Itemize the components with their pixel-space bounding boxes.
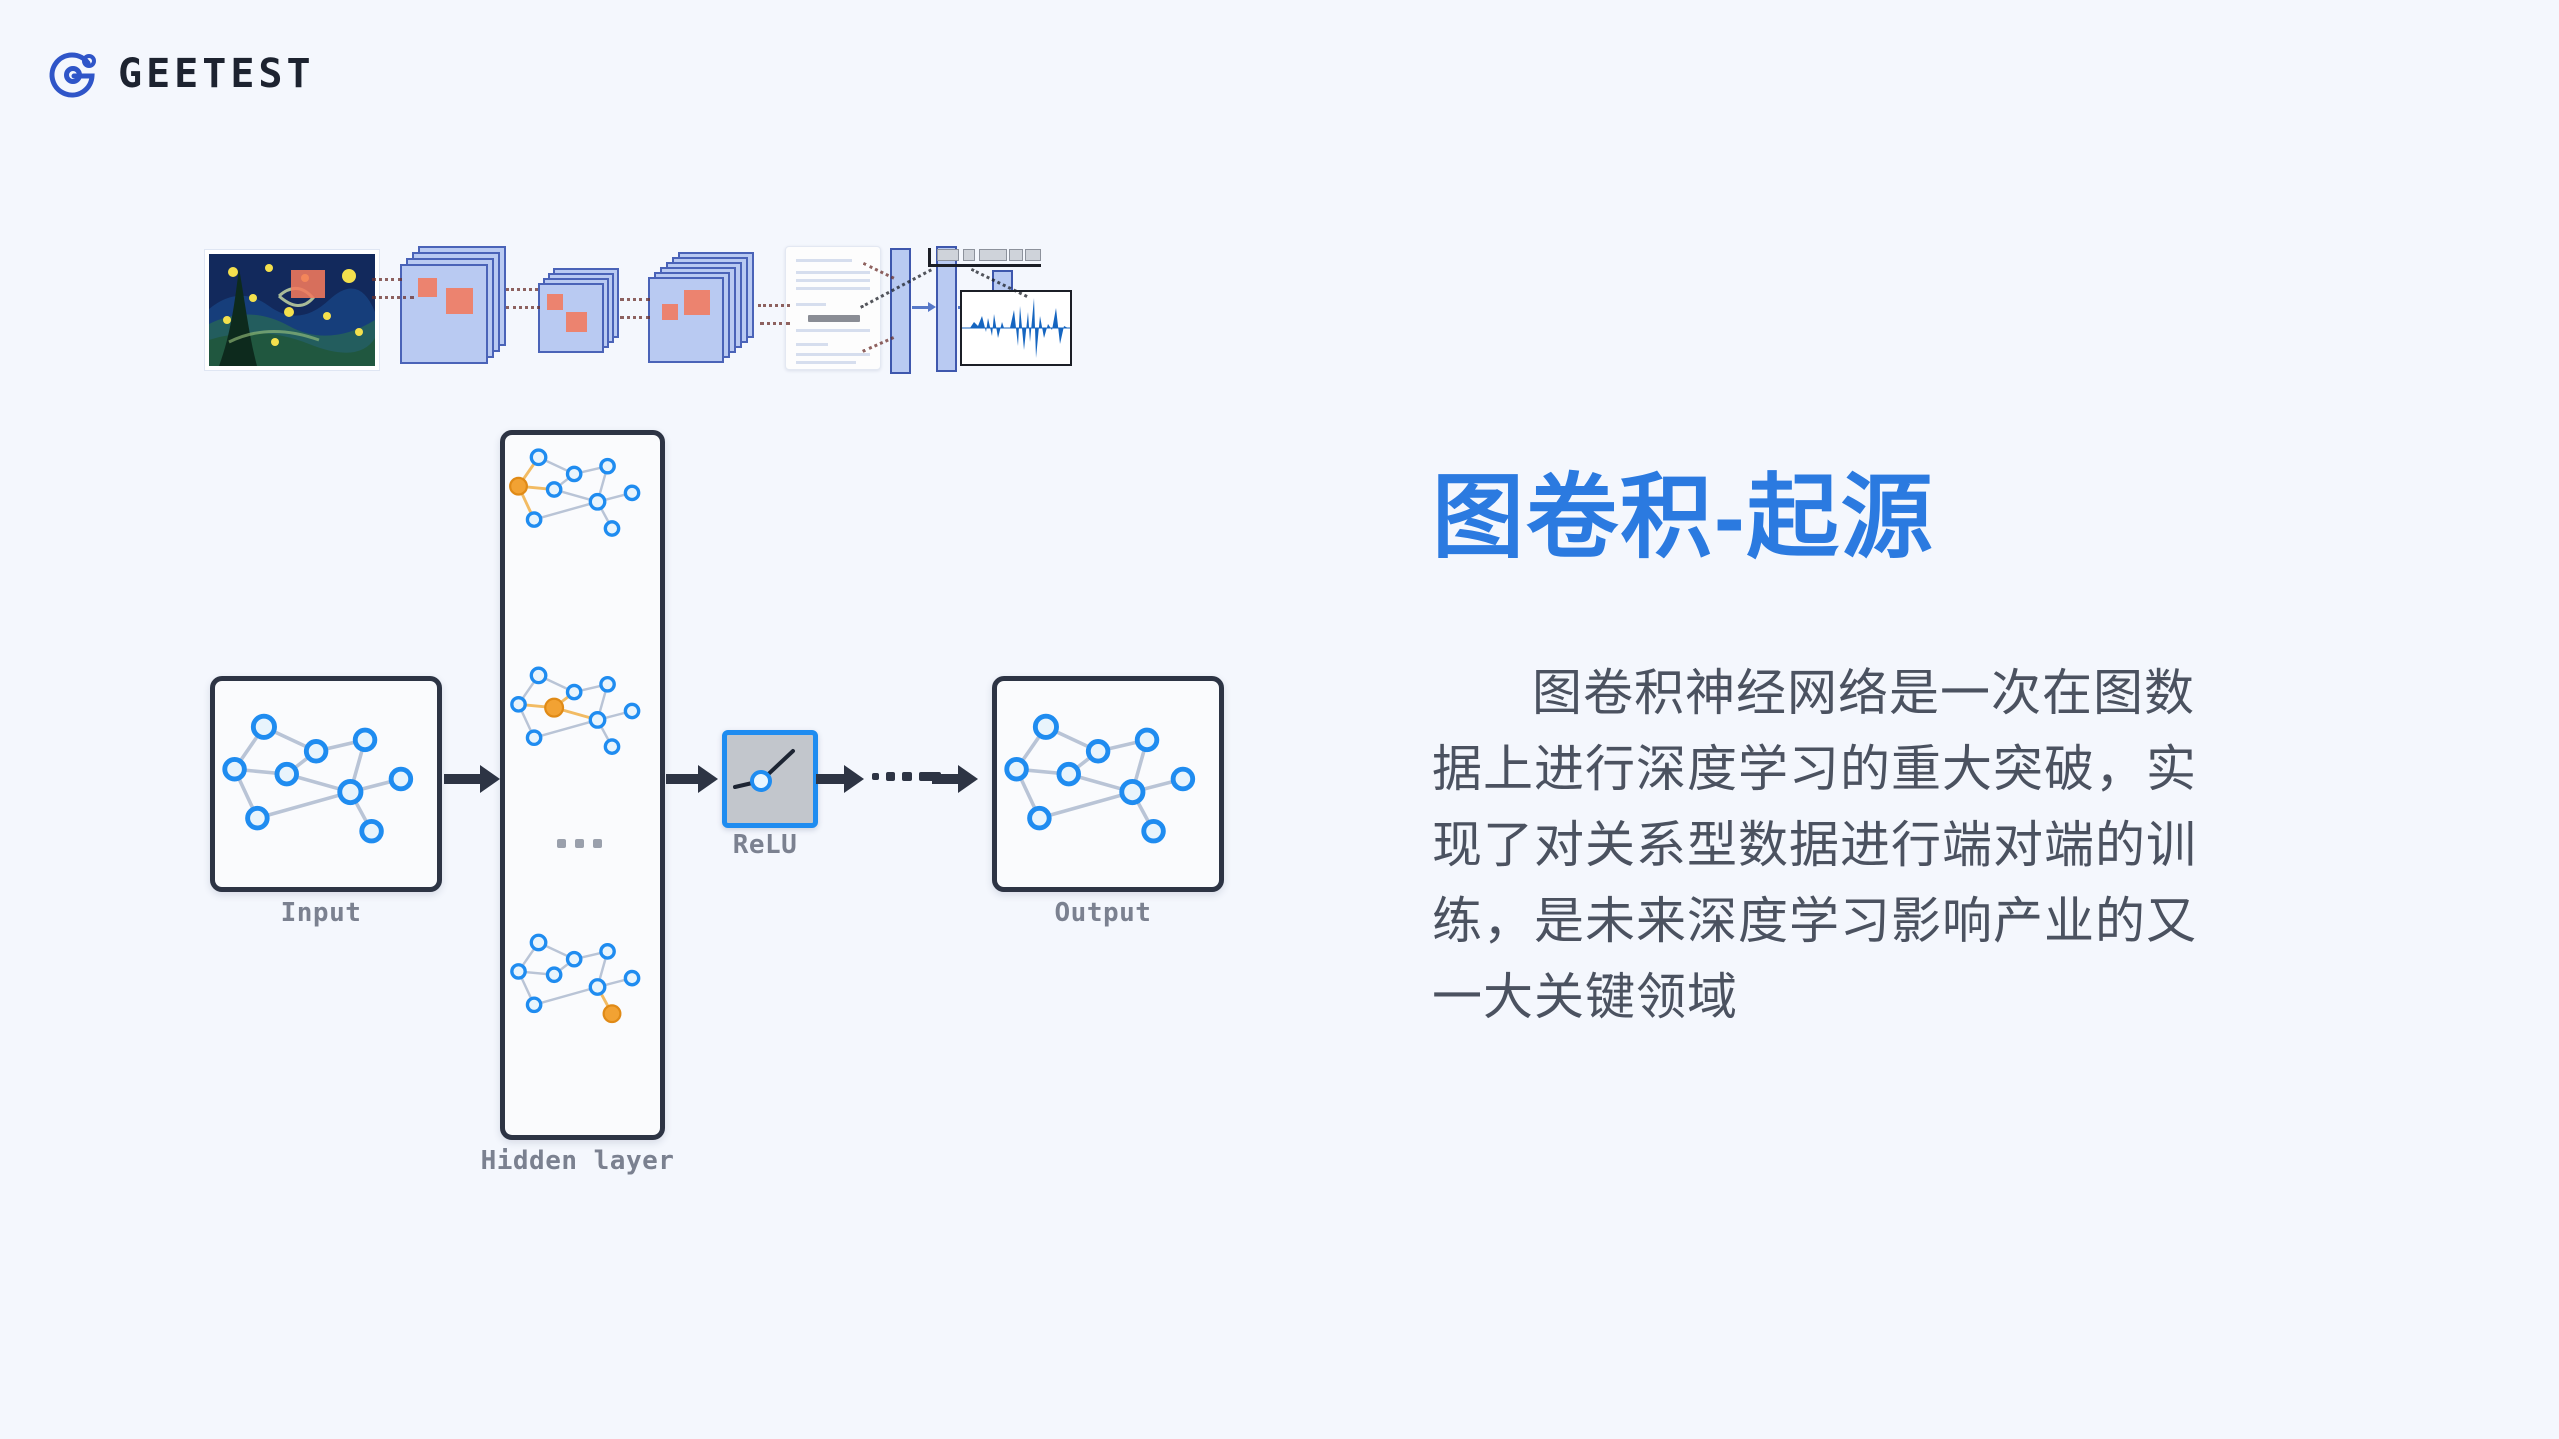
graph-convolution-pipeline: Input: [210, 430, 1310, 1220]
conv-feature-maps-3: [648, 252, 756, 370]
connector-line: [758, 304, 790, 307]
brand-name: GEETEST: [118, 51, 315, 97]
connector-line: [372, 278, 402, 281]
input-box[interactable]: [210, 676, 442, 892]
body-paragraph: 图卷积神经网络是一次在图数据上进行深度学习的重大突破，实现了对关系型数据进行端对…: [1432, 655, 2242, 1035]
fc-bar-1: [890, 248, 911, 374]
input-label: Input: [210, 898, 432, 928]
input-graph: [215, 681, 427, 877]
connector-line: [620, 298, 650, 301]
page-title: 图卷积-起源: [1432, 470, 2242, 567]
connector-line: [620, 316, 650, 319]
connector-line: [760, 322, 790, 325]
copy-column: 图卷积-起源 图卷积神经网络是一次在图数据上进行深度学习的重大突破，实现了对关系…: [1432, 470, 2242, 1035]
hidden-layer-box[interactable]: [500, 430, 665, 1140]
output-box[interactable]: [992, 676, 1224, 892]
document-highlight: [808, 315, 860, 322]
highlight-node: [510, 478, 527, 495]
token-sequence-bar: [928, 248, 1041, 267]
hidden-layer-graph: [505, 435, 650, 1125]
starry-night-input-image: [205, 250, 379, 370]
hidden-layer-label: Hidden layer: [475, 1146, 680, 1176]
conv-receptive-patch: [291, 270, 325, 298]
fc-arrow-1: [912, 306, 929, 309]
highlight-node: [545, 699, 563, 717]
brand-logo: GEETEST: [44, 46, 315, 102]
connector-line: [372, 296, 414, 299]
cnn-feature-extraction-strip: [200, 238, 1290, 398]
sequence-dots: [872, 772, 941, 781]
relu-label: ReLU: [710, 830, 820, 860]
highlight-node: [604, 1005, 621, 1022]
audio-waveform: [960, 290, 1072, 366]
conv-feature-maps-1: [400, 246, 505, 366]
geetest-g-logo-icon: [44, 46, 100, 102]
output-graph: [997, 681, 1209, 877]
output-label: Output: [992, 898, 1214, 928]
relu-box[interactable]: [722, 730, 818, 828]
hidden-layer-ellipsis: [557, 839, 602, 848]
conv-feature-maps-2: [538, 268, 620, 360]
connector-line: [506, 288, 538, 291]
connector-line: [506, 306, 540, 309]
